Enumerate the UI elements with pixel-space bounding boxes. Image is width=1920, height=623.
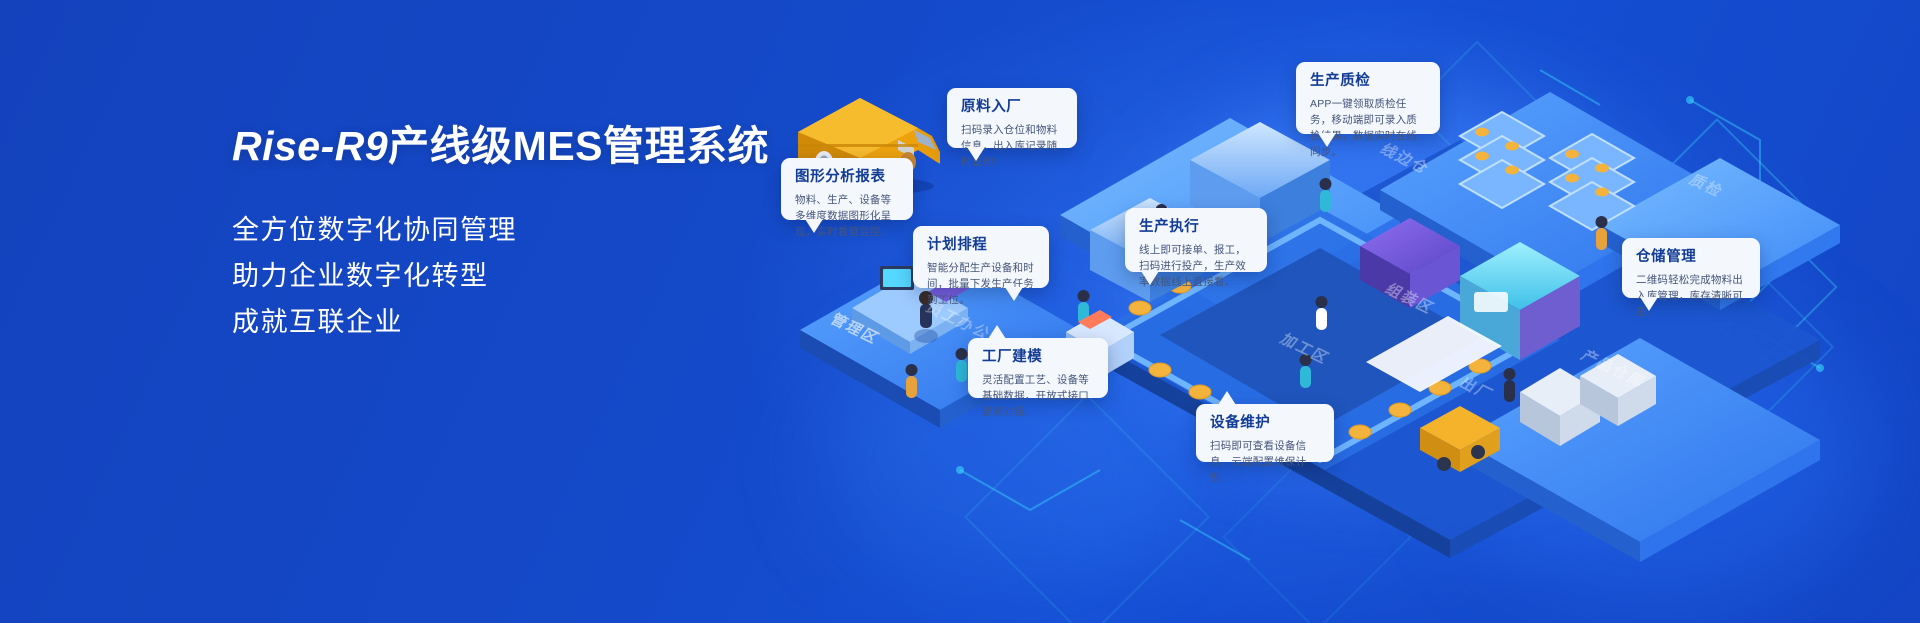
card-equipment-maintain-title: 设备维护: [1210, 415, 1321, 432]
title-latin: Rise-R9: [232, 123, 388, 169]
card-equipment-maintain-tail: [1218, 391, 1236, 405]
card-graph-report-desc: 物料、生产、设备等多维度数据图形化呈现，实时看管监控。: [795, 192, 900, 240]
title-cn: 产线级MES管理系统: [388, 123, 769, 169]
subtitle-line-2: 助力企业数字化转型: [232, 253, 769, 299]
mes-banner: Rise-R9产线级MES管理系统 全方位数字化协同管理 助力企业数字化转型 成…: [0, 0, 1920, 623]
card-quality-inspection-desc: APP一键领取质检任务，移动端即可录入质检结果，数据实时在线同步。: [1310, 96, 1427, 160]
card-plan-schedule-title: 计划排程: [927, 237, 1036, 254]
card-plan-schedule-desc: 智能分配生产设备和时间，批量下发生产任务到工位。: [927, 260, 1036, 308]
subtitle-line-1: 全方位数字化协同管理: [232, 207, 769, 253]
card-plan-schedule-tail: [1005, 287, 1023, 301]
card-graph-report-tail: [805, 219, 823, 233]
card-quality-inspection-tail: [1318, 133, 1336, 147]
card-material-inbound-title: 原料入厂: [961, 99, 1064, 116]
card-graph-report-title: 图形分析报表: [795, 169, 900, 186]
card-equipment-maintain-desc: 扫码即可查看设备信息，云端配置维保计划。: [1210, 438, 1321, 486]
card-warehouse-manage[interactable]: 仓储管理 二维码轻松完成物料出入库管理，库存清晰可查。: [1622, 238, 1760, 298]
card-production-execute-title: 生产执行: [1139, 219, 1254, 236]
card-factory-modeling-title: 工厂建模: [982, 349, 1095, 366]
card-equipment-maintain[interactable]: 设备维护 扫码即可查看设备信息，云端配置维保计划。: [1196, 404, 1334, 462]
card-production-execute-tail: [1141, 271, 1159, 285]
subtitle-line-3: 成就互联企业: [232, 299, 769, 345]
card-quality-inspection[interactable]: 生产质检 APP一键领取质检任务，移动端即可录入质检结果，数据实时在线同步。: [1296, 62, 1440, 134]
card-plan-schedule[interactable]: 计划排程 智能分配生产设备和时间，批量下发生产任务到工位。: [913, 226, 1049, 288]
card-factory-modeling-tail: [988, 325, 1006, 339]
page-title: Rise-R9产线级MES管理系统: [232, 124, 769, 169]
hero-copy: Rise-R9产线级MES管理系统 全方位数字化协同管理 助力企业数字化转型 成…: [232, 124, 769, 345]
card-production-execute[interactable]: 生产执行 线上即可接单、报工，扫码进行投产，生产效率数据线上直接看。: [1125, 208, 1267, 272]
card-material-inbound-tail: [967, 147, 985, 161]
card-graph-report[interactable]: 图形分析报表 物料、生产、设备等多维度数据图形化呈现，实时看管监控。: [781, 158, 913, 220]
card-factory-modeling-desc: 灵活配置工艺、设备等基础数据，开放式接口更易对接。: [982, 372, 1095, 420]
hero-subtitle: 全方位数字化协同管理 助力企业数字化转型 成就互联企业: [232, 207, 769, 345]
card-warehouse-manage-tail: [1640, 297, 1658, 311]
card-warehouse-manage-title: 仓储管理: [1636, 249, 1747, 266]
card-material-inbound[interactable]: 原料入厂 扫码录入仓位和物料信息，出入库记录随时查询!: [947, 88, 1077, 148]
card-quality-inspection-title: 生产质检: [1310, 73, 1427, 90]
card-factory-modeling[interactable]: 工厂建模 灵活配置工艺、设备等基础数据，开放式接口更易对接。: [968, 338, 1108, 398]
